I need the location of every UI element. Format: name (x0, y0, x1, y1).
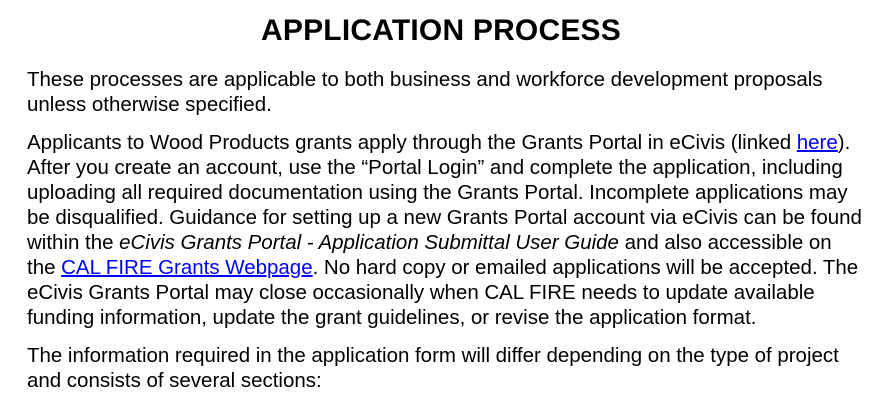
paragraph-application-portal: Applicants to Wood Products grants apply… (27, 130, 865, 330)
paragraph-intro: These processes are applicable to both b… (27, 67, 865, 117)
here-link[interactable]: here (797, 131, 838, 154)
paragraph-segment-1: Applicants to Wood Products grants apply… (27, 131, 797, 154)
document-body: These processes are applicable to both b… (0, 46, 882, 393)
user-guide-title: eCivis Grants Portal - Application Submi… (119, 231, 619, 254)
document-page: APPLICATION PROCESS These processes are … (0, 0, 882, 407)
page-title: APPLICATION PROCESS (0, 0, 882, 46)
cal-fire-grants-webpage-link[interactable]: CAL FIRE Grants Webpage (61, 256, 313, 279)
paragraph-application-sections: The information required in the applicat… (27, 343, 865, 393)
